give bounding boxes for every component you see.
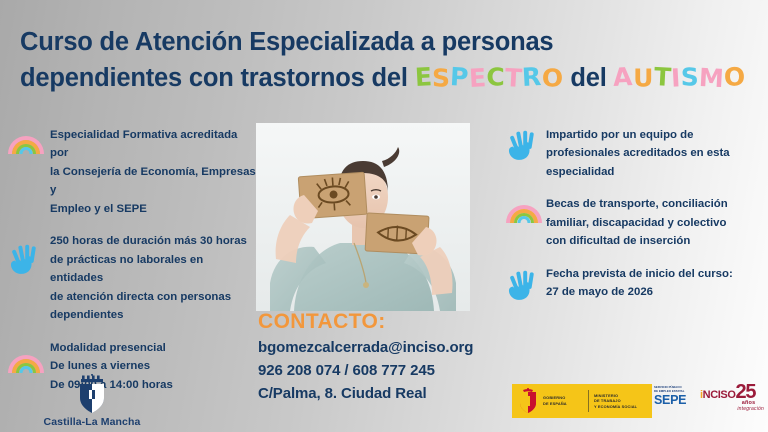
contact-email[interactable]: bgomezcalcerrada@inciso.org (258, 337, 558, 360)
feature-line: Empleo y el SEPE (50, 200, 256, 218)
left-feature-column: Especialidad Formativa acreditada por la… (6, 126, 256, 408)
letter-p-2: P (449, 59, 469, 95)
feature-item-staff: Impartido por un equipo de profesionales… (504, 126, 766, 181)
contact-title: CONTACTO: (258, 310, 558, 334)
letter-e-0: E (414, 59, 433, 95)
headline-line-2-prefix: dependientes con trastornos del (20, 64, 415, 92)
divider (588, 390, 589, 412)
letter-a-0: A (613, 59, 634, 95)
gobierno-text: GOBIERNO DE ESPAÑA (543, 395, 583, 406)
feature-text: 250 horas de duración más 30 horas de pr… (46, 232, 256, 324)
letter-r-6: R (521, 59, 542, 95)
inciso-wordmark: iNCISO (700, 390, 736, 401)
sepe-wordmark: SEPE (654, 394, 694, 407)
inciso-rest: NCISO (703, 389, 736, 401)
letter-t-2: T (653, 59, 672, 95)
feature-line: profesionales acreditados en esta (546, 144, 730, 162)
feature-line: de prácticas no laborales en entidades (50, 251, 256, 288)
feature-line: 27 de mayo de 2026 (546, 283, 733, 301)
feature-line: la Consejería de Economía, Empresas y (50, 163, 256, 200)
letter-s-1: S (432, 61, 450, 97)
letter-t-5: T (504, 60, 523, 96)
letter-o-6: O (723, 59, 746, 96)
feature-line: Modalidad presencial (50, 339, 173, 357)
letter-s-4: S (681, 60, 699, 96)
course-photo (256, 123, 470, 311)
feature-line: Becas de transporte, conciliación (546, 195, 728, 213)
word-espectro: ESPECTRO (415, 63, 564, 92)
logo-castilla-la-mancha: Castilla-La Mancha (32, 374, 152, 428)
feature-line: especialidad (546, 163, 730, 181)
hand-icon (504, 124, 544, 164)
feature-line: Impartido por un equipo de (546, 126, 730, 144)
coat-of-arms-icon (517, 388, 539, 414)
poster-root: Curso de Atención Especializada a person… (0, 0, 768, 432)
feature-line: familiar, discapacidad y colectivo (546, 214, 728, 232)
letter-c-4: C (486, 60, 505, 96)
feature-line: dependientes (50, 306, 256, 324)
headline-line-1: Curso de Atención Especializada a person… (20, 24, 760, 60)
inciso-25-number: 25 (736, 384, 756, 401)
hand-icon (6, 238, 46, 278)
feature-line: 250 horas de duración más 30 horas (50, 232, 256, 250)
feature-line: con dificultad de inserción (546, 232, 728, 250)
feature-line: De lunes a viernes (50, 357, 173, 375)
logo-jccm-label: Castilla-La Mancha (32, 416, 152, 428)
logo-inciso: iNCISO 25 años integración (700, 384, 764, 420)
ministerio-line: Y ECONOMÍA SOCIAL (594, 404, 646, 410)
letter-e-3: E (468, 60, 487, 96)
headline-line-2-mid: del (563, 64, 613, 92)
rainbow-icon (504, 197, 544, 237)
shield-icon (76, 374, 108, 414)
gobierno-line: DE ESPAÑA (543, 401, 583, 407)
word-autismo: AUTISMO (613, 63, 745, 92)
hand-icon (504, 264, 544, 304)
feature-text: Especialidad Formativa acreditada por la… (46, 126, 256, 218)
letter-m-5: M (698, 60, 725, 97)
contact-phones[interactable]: 926 208 074 / 608 777 245 (258, 360, 558, 383)
logo-sepe: SERVICIO PÚBLICO DE EMPLEO ESTATAL SEPE (654, 386, 694, 406)
feature-line: de atención directa con personas (50, 288, 256, 306)
feature-text: Becas de transporte, conciliación famili… (544, 195, 728, 250)
inciso-tagline: integración (700, 406, 764, 412)
rainbow-icon (6, 128, 46, 168)
feature-item-accreditation: Especialidad Formativa acreditada por la… (6, 126, 256, 218)
inciso-anniversary: 25 años (736, 384, 756, 406)
headline-line-2: dependientes con trastornos del ESPECTRO… (20, 60, 760, 96)
feature-item-start-date: Fecha prevista de inicio del curso: 27 d… (504, 265, 766, 304)
feature-line: Fecha prevista de inicio del curso: (546, 265, 733, 283)
right-feature-column: Impartido por un equipo de profesionales… (504, 126, 766, 318)
letter-o-7: O (542, 61, 564, 97)
logo-gobierno-de-espana: GOBIERNO DE ESPAÑA MINISTERIO DE TRABAJO… (512, 384, 652, 418)
feature-line: Especialidad Formativa acreditada por (50, 126, 256, 163)
feature-text: Fecha prevista de inicio del curso: 27 d… (544, 265, 733, 302)
ministerio-text: MINISTERIO DE TRABAJO Y ECONOMÍA SOCIAL (594, 393, 646, 410)
page-title: Curso de Atención Especializada a person… (20, 24, 760, 96)
feature-item-hours: 250 horas de duración más 30 horas de pr… (6, 232, 256, 324)
feature-text: Impartido por un equipo de profesionales… (544, 126, 730, 181)
letter-u-1: U (633, 61, 654, 97)
feature-item-grants: Becas de transporte, conciliación famili… (504, 195, 766, 250)
